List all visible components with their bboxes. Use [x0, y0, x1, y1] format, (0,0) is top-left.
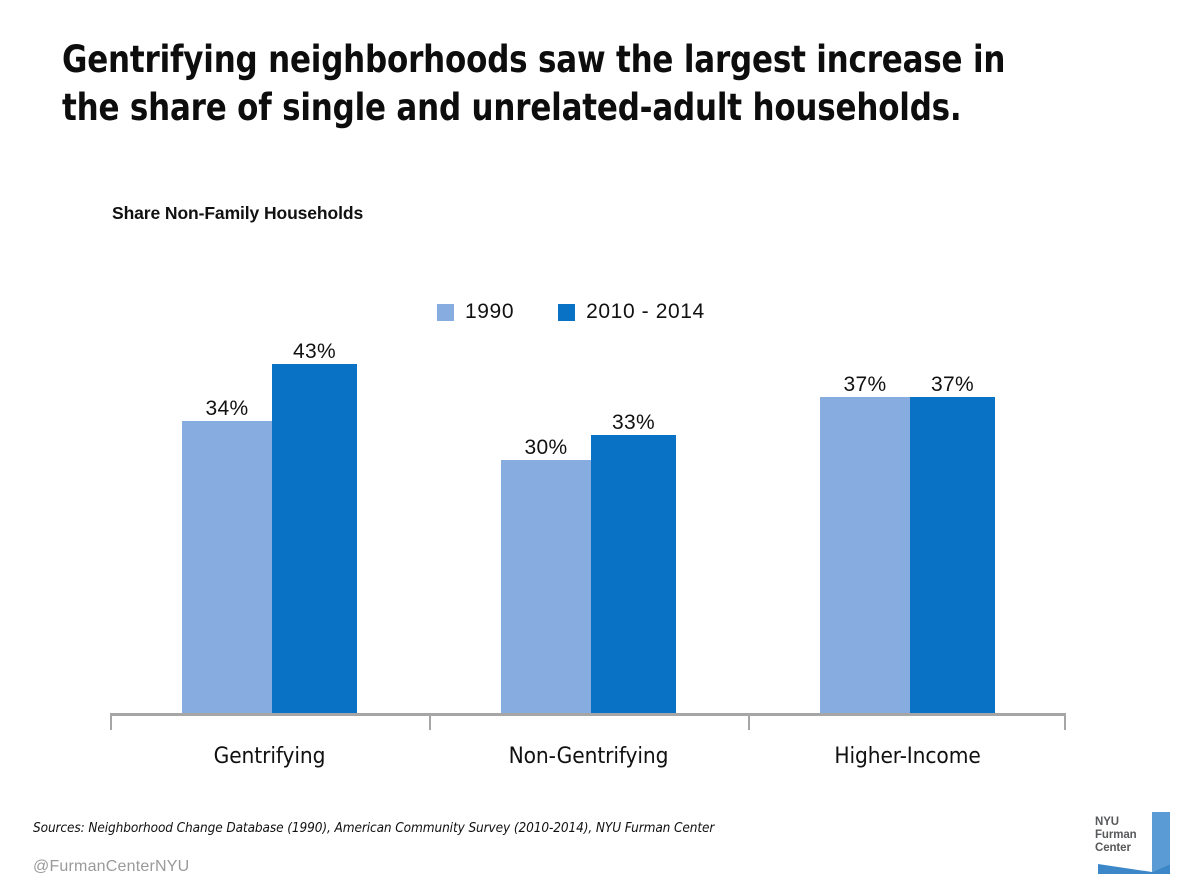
bar-wrap-2010-2014[interactable]: 37%	[910, 283, 995, 713]
bar-1990[interactable]	[182, 421, 272, 713]
x-axis-line	[110, 713, 1066, 716]
bar-group-bars: 37% 37%	[748, 283, 1067, 713]
chart-subtitle: Share Non-Family Households	[112, 203, 363, 224]
bar-group-bars: 34% 43%	[110, 283, 429, 713]
x-axis-category-label: Higher-Income	[748, 743, 1067, 769]
bar-group-non-gentrifying: 30% 33% Non-Gentrifying	[429, 283, 748, 713]
x-axis-tick-end	[1064, 716, 1066, 730]
bar-chart-plot: 34% 43% Gentrifying 30% 33% Non-Gentrify…	[110, 250, 1066, 716]
bar-value-label: 34%	[206, 397, 249, 421]
bar-group-bars: 30% 33%	[429, 283, 748, 713]
bar-value-label: 37%	[931, 373, 974, 397]
sources-note: Sources: Neighborhood Change Database (1…	[33, 820, 714, 836]
x-axis-tick-1	[429, 716, 431, 730]
bar-wrap-1990[interactable]: 34%	[182, 283, 272, 713]
bar-value-label: 30%	[525, 436, 568, 460]
bar-value-label: 33%	[612, 411, 655, 435]
bar-group-higher-income: 37% 37% Higher-Income	[748, 283, 1067, 713]
bar-wrap-1990[interactable]: 30%	[501, 283, 591, 713]
bar-2010-2014[interactable]	[910, 397, 995, 713]
bar-1990[interactable]	[820, 397, 910, 713]
x-axis-tick-start	[110, 716, 112, 730]
bar-value-label: 37%	[844, 373, 887, 397]
bar-wrap-2010-2014[interactable]: 43%	[272, 283, 357, 713]
logo-text: NYU Furman Center	[1095, 816, 1137, 855]
bar-1990[interactable]	[501, 460, 591, 713]
bar-2010-2014[interactable]	[591, 435, 676, 713]
bar-2010-2014[interactable]	[272, 364, 357, 713]
social-handle: @FurmanCenterNYU	[33, 858, 189, 876]
bar-value-label: 43%	[293, 340, 336, 364]
bar-group-gentrifying: 34% 43% Gentrifying	[110, 283, 429, 713]
page-title: Gentrifying neighborhoods saw the larges…	[62, 36, 1057, 132]
nyu-furman-center-logo[interactable]: NYU Furman Center	[1090, 812, 1178, 882]
x-axis-category-label: Non-Gentrifying	[429, 743, 748, 769]
bar-wrap-1990[interactable]: 37%	[820, 283, 910, 713]
bar-wrap-2010-2014[interactable]: 33%	[591, 283, 676, 713]
x-axis-tick-2	[748, 716, 750, 730]
x-axis-category-label: Gentrifying	[110, 743, 429, 769]
